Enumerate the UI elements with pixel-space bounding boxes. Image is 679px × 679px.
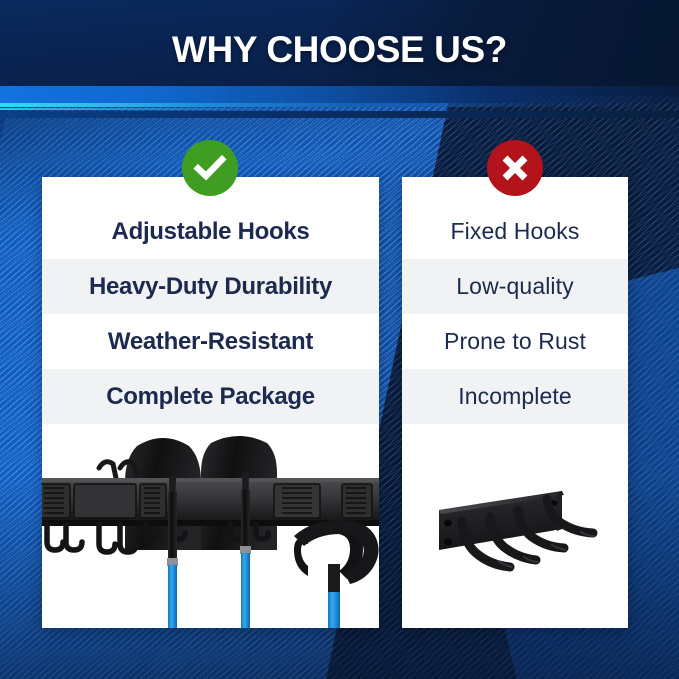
list-item[interactable]: Adjustable Hooks [42,204,379,259]
list-item[interactable]: Prone to Rust [402,314,628,369]
pros-badge [182,140,238,196]
pros-item-label: Adjustable Hooks [112,218,310,246]
rail-highlight [42,478,379,482]
adjustable-tool-rail-illustration [42,432,379,628]
cons-list: Fixed Hooks Low-quality Prone to Rust In… [402,177,628,424]
cons-badge [487,140,543,196]
d-handle-tool [294,520,379,628]
cons-item-label: Prone to Rust [444,328,586,355]
header-cyan-streak [0,103,679,107]
list-item[interactable]: Incomplete [402,369,628,424]
check-icon [193,151,227,185]
list-item[interactable]: Complete Package [42,369,379,424]
header-cyan-streak-thin [0,108,394,110]
pros-list: Adjustable Hooks Heavy-Duty Durability W… [42,177,379,424]
pros-product-image [42,432,379,628]
header-dim-streak [0,111,679,118]
cons-item-label: Low-quality [456,273,573,300]
fixed-hook-rail-illustration [402,455,628,628]
cons-item-label: Incomplete [458,383,572,410]
list-item[interactable]: Weather-Resistant [42,314,379,369]
list-item[interactable]: Low-quality [402,259,628,314]
cross-icon [500,153,530,183]
square-shovel-handle [241,553,250,628]
round-shovel-handle [168,565,177,628]
square-shovel-ferrule [240,546,251,554]
round-shovel-shaft [168,492,177,560]
square-shovel-shaft [241,490,250,548]
header-blue-streak [0,86,679,103]
round-shovel-ferrule [167,558,178,566]
cons-card: Fixed Hooks Low-quality Prone to Rust In… [402,177,628,628]
cons-product-image [402,455,628,628]
pros-item-label: Heavy-Duty Durability [89,273,332,301]
pros-card: Adjustable Hooks Heavy-Duty Durability W… [42,177,379,628]
pros-item-label: Complete Package [106,383,315,411]
page-title: WHY CHOOSE US? [0,29,679,71]
cons-item-label: Fixed Hooks [451,218,580,245]
pros-item-label: Weather-Resistant [108,328,313,356]
list-item[interactable]: Heavy-Duty Durability [42,259,379,314]
list-item[interactable]: Fixed Hooks [402,204,628,259]
